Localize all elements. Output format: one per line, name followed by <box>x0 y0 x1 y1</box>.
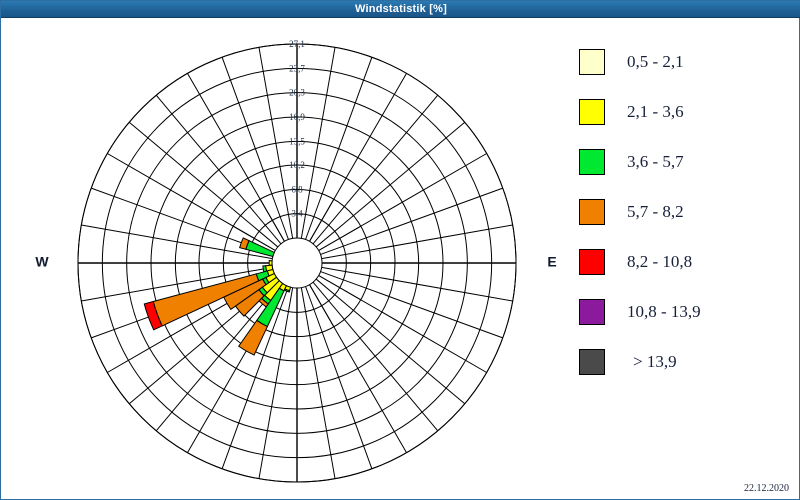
radial-tick-label-4: 16,9 <box>289 112 305 122</box>
radial-tick-label-3: 13,5 <box>289 136 305 146</box>
windstatistik-window: Windstatistik [%] 3,46,810,213,516,920,3… <box>0 0 800 500</box>
radial-tick-label-5: 20,3 <box>289 88 305 98</box>
legend-item[interactable]: 2,1 - 3,6 <box>579 87 789 137</box>
cardinal-label-E: E <box>547 254 556 270</box>
legend-item[interactable]: > 13,9 <box>579 337 789 387</box>
legend-swatch <box>579 199 605 225</box>
radial-tick-label-0: 3,4 <box>291 209 303 219</box>
grid-layer <box>78 44 516 482</box>
legend-item[interactable]: 5,7 - 8,2 <box>579 187 789 237</box>
legend-label: 10,8 - 13,9 <box>627 302 701 322</box>
legend-label: 8,2 - 10,8 <box>627 252 692 272</box>
radial-tick-label-7: 27,1 <box>289 39 305 49</box>
radial-tick-label-6: 23,7 <box>289 63 305 73</box>
legend-label: > 13,9 <box>633 352 677 372</box>
petal-270-class-1 <box>269 261 272 266</box>
legend-item[interactable]: 3,6 - 5,7 <box>579 137 789 187</box>
legend-label: 0,5 - 2,1 <box>627 52 684 72</box>
legend-swatch <box>579 99 605 125</box>
cardinal-label-W: W <box>35 254 49 270</box>
legend-swatch <box>579 299 605 325</box>
legend-label: 2,1 - 3,6 <box>627 102 684 122</box>
legend-swatch <box>579 249 605 275</box>
petal-210-class-3 <box>239 320 268 355</box>
legend-item[interactable]: 10,8 - 13,9 <box>579 287 789 337</box>
window-title: Windstatistik [%] <box>1 1 800 18</box>
legend-label: 5,7 - 8,2 <box>627 202 684 222</box>
legend-item[interactable]: 0,5 - 2,1 <box>579 37 789 87</box>
legend-label: 3,6 - 5,7 <box>627 152 684 172</box>
radial-tick-label-2: 10,2 <box>289 160 305 170</box>
window-title-bar: Windstatistik [%] <box>1 1 800 18</box>
petal-290-class-2 <box>246 241 274 257</box>
radial-tick-label-1: 6,8 <box>291 184 303 194</box>
legend-swatch <box>579 349 605 375</box>
legend-swatch <box>579 49 605 75</box>
date-stamp: 22.12.2020 <box>744 483 789 494</box>
petal-layer <box>144 238 290 355</box>
legend-item[interactable]: 8,2 - 10,8 <box>579 237 789 287</box>
legend-swatch <box>579 149 605 175</box>
legend: 0,5 - 2,12,1 - 3,63,6 - 5,75,7 - 8,28,2 … <box>579 37 789 387</box>
